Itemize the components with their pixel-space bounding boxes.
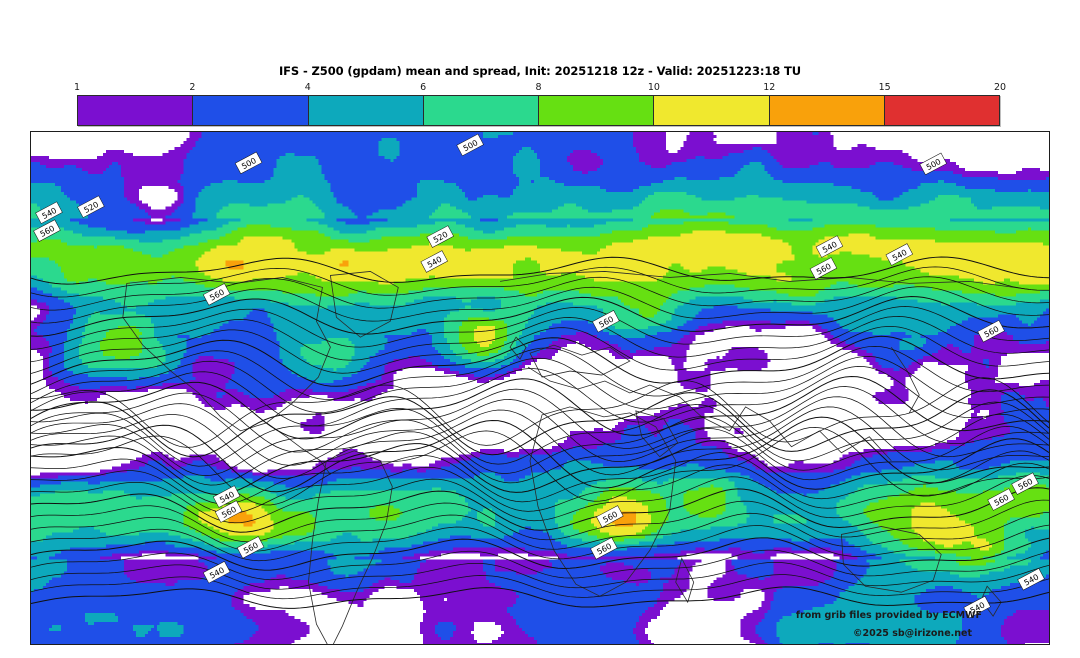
colorbar-segment-8-10: [539, 96, 654, 125]
map-panel[interactable]: 5005005005205205405405405405605605605605…: [30, 131, 1050, 645]
colorbar-tick-2: 2: [189, 82, 195, 93]
colorbar: 1246810121520: [77, 82, 1000, 128]
colorbar-tick-8: 8: [535, 82, 541, 93]
map-plot: 5005005005205205405405405405605605605605…: [31, 132, 1049, 644]
colorbar-segment-4-6: [309, 96, 424, 125]
colorbar-tick-1: 1: [74, 82, 80, 93]
colorbar-segment-10-12: [654, 96, 769, 125]
colorbar-tick-4: 4: [305, 82, 311, 93]
colorbar-tick-12: 12: [763, 82, 775, 93]
forecast-map-page: IFS - Z500 (gpdam) mean and spread, Init…: [0, 0, 1080, 658]
colorbar-segment-1-2: [78, 96, 193, 125]
page-title: IFS - Z500 (gpdam) mean and spread, Init…: [0, 64, 1080, 78]
colorbar-gradient: [77, 95, 1000, 126]
colorbar-segment-15-20: [885, 96, 999, 125]
colorbar-segment-2-4: [193, 96, 308, 125]
colorbar-tick-10: 10: [648, 82, 660, 93]
author-credit: ©2025 sb@irizone.net: [0, 628, 1050, 639]
colorbar-tick-labels: 1246810121520: [77, 82, 1000, 96]
colorbar-segment-6-8: [424, 96, 539, 125]
colorbar-tick-6: 6: [420, 82, 426, 93]
data-source-credit: from grib files provided by ECMWF: [0, 610, 1050, 621]
colorbar-tick-15: 15: [879, 82, 891, 93]
colorbar-segment-12-15: [770, 96, 885, 125]
colorbar-tick-20: 20: [994, 82, 1006, 93]
